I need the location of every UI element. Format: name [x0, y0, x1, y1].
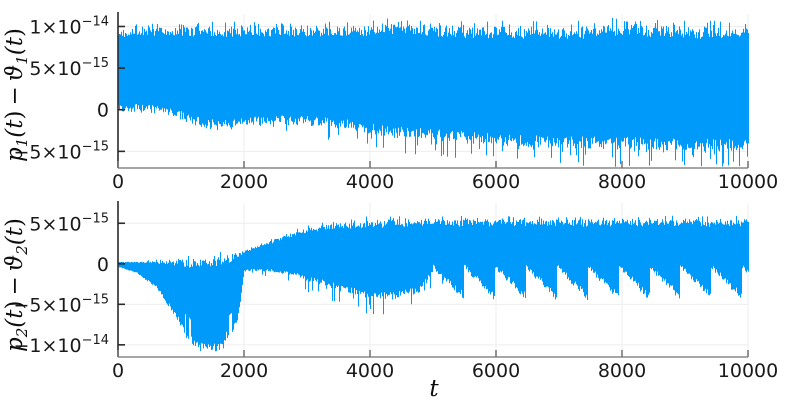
x-axis-tick-label: 0: [112, 171, 124, 193]
x-axis-tick-label: 2000: [220, 360, 268, 382]
x-axis-tick-label: 6000: [472, 360, 520, 382]
x-axis-tick-label: 0: [112, 360, 124, 382]
x-axis-tick-label: 6000: [472, 171, 520, 193]
x-axis-tick-label: 4000: [346, 171, 394, 193]
x-axis-tick-label: 10000: [718, 171, 778, 193]
x-axis-tick-label: 8000: [598, 171, 646, 193]
x-axis-tick-label: 2000: [220, 171, 268, 193]
x-axis-tick-label: 8000: [598, 360, 646, 382]
x-axis-tick-label: 10000: [718, 360, 778, 382]
y-axis-tick-label: 0: [97, 100, 109, 122]
y-axis-tick-label: 0: [97, 254, 109, 276]
x-axis-tick-label: 4000: [346, 360, 394, 382]
xaxis-label: t: [429, 376, 439, 400]
plot-canvas: 1×10−145×10−150−5×10−1502000400060008000…: [0, 0, 800, 400]
figure-root: 1×10−145×10−150−5×10−1502000400060008000…: [0, 0, 800, 400]
